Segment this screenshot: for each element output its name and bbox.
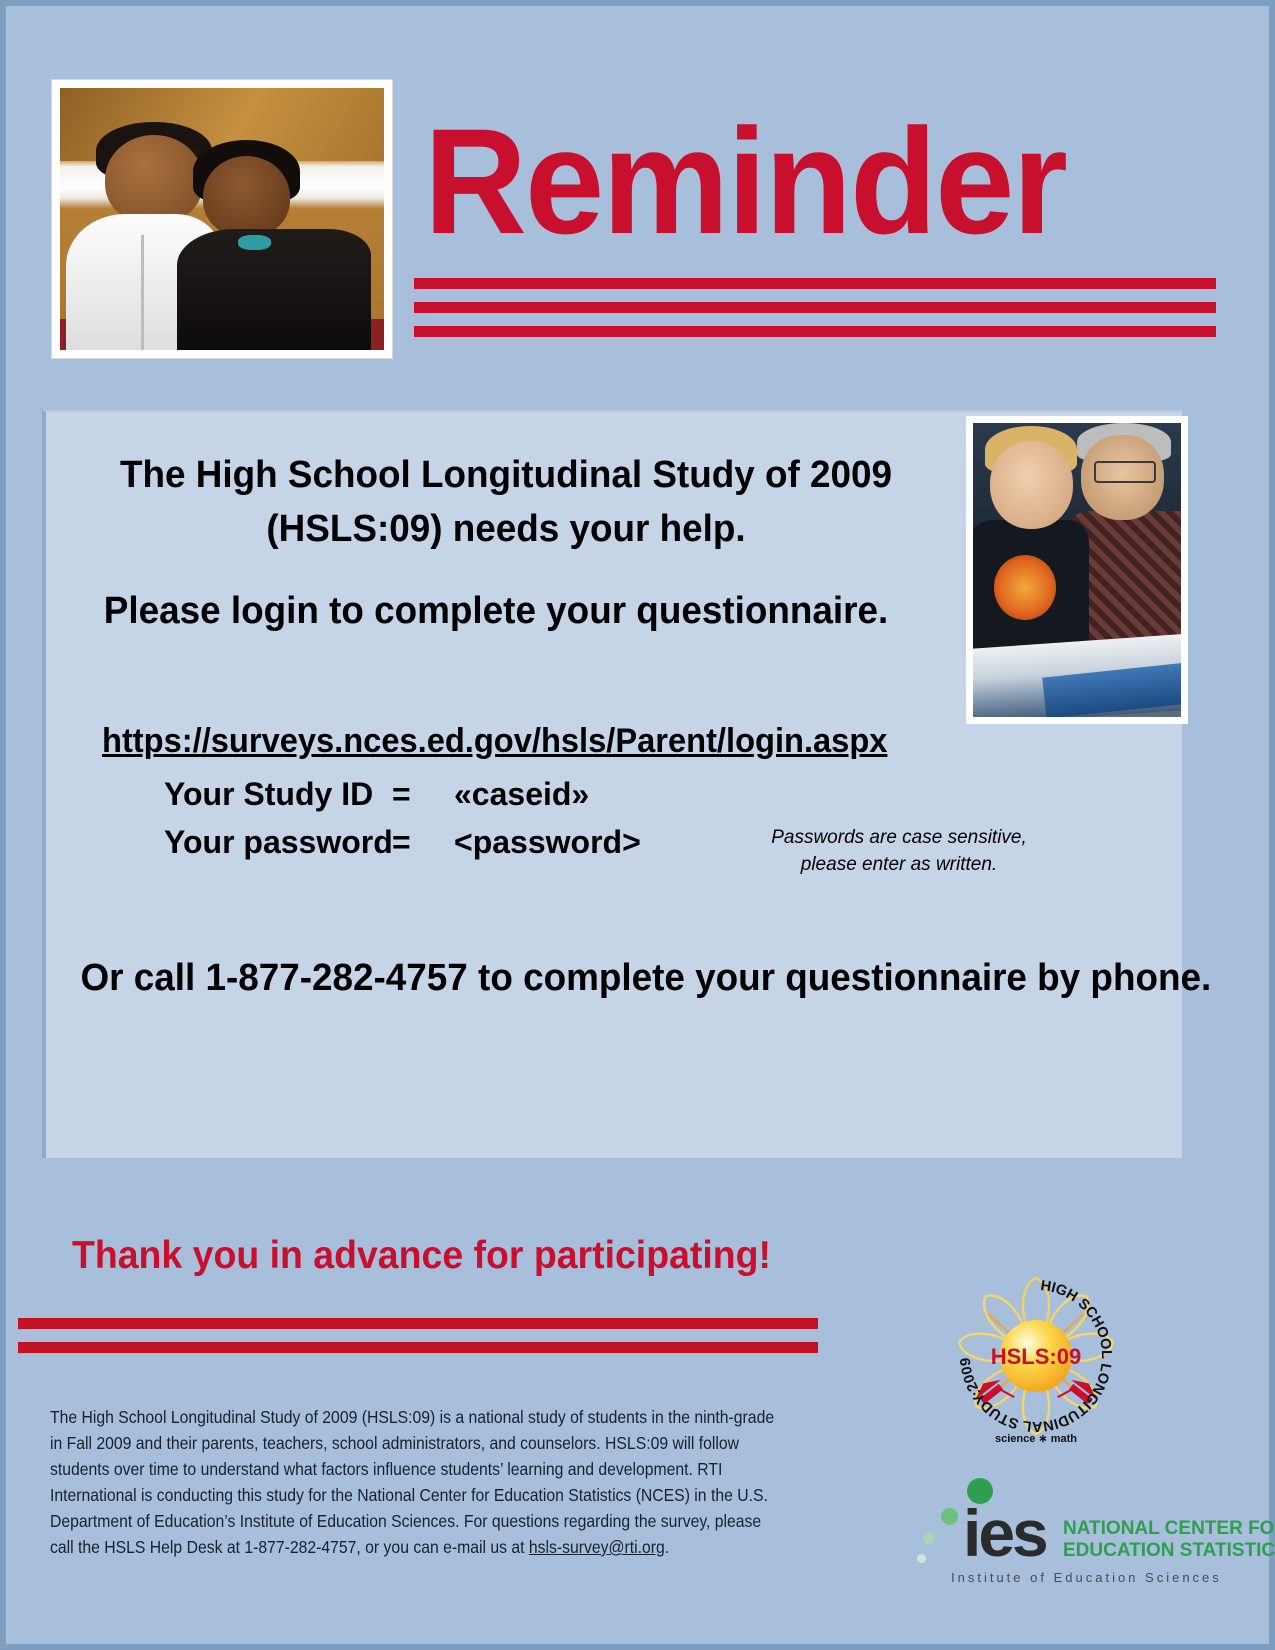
password-note-line-1: Passwords are case sensitive, <box>754 824 1044 851</box>
footer-rule-bars <box>18 1318 818 1366</box>
study-description-text: The High School Longitudinal Study of 20… <box>50 1407 774 1557</box>
password-note: Passwords are case sensitive, please ent… <box>754 824 1044 878</box>
study-id-value: «caseid» <box>454 776 589 812</box>
ies-line-1: NATIONAL CENTER FOR <box>1063 1518 1275 1540</box>
password-note-line-2: please enter as written. <box>754 851 1044 878</box>
password-row: Your password=<password> <box>164 824 641 861</box>
survey-login-link[interactable]: https://surveys.nces.ed.gov/hsls/Parent/… <box>102 722 887 761</box>
poster-page: Reminder The High School Longitudinal St… <box>0 0 1275 1650</box>
hsls-bottom-text: science ∗ math <box>995 1433 1077 1445</box>
study-description-period: . <box>665 1537 669 1557</box>
hsls-logo: HIGH SCHOOL LONGITUDINAL STUDY:2009 HSLS… <box>936 1256 1136 1456</box>
study-id-equals: = <box>392 776 454 813</box>
footer-rule-bar <box>18 1318 818 1329</box>
ies-line-2: EDUCATION STATISTICS <box>1063 1540 1275 1562</box>
header-rule-bar <box>414 278 1216 289</box>
panel-headline: The High School Longitudinal Study of 20… <box>60 448 952 556</box>
header-rule-bars <box>414 278 1216 350</box>
content-panel: The High School Longitudinal Study of 20… <box>42 410 1182 1158</box>
poster-header: Reminder <box>6 6 1269 386</box>
panel-subhead: Please login to complete your questionna… <box>60 590 933 633</box>
ies-logo: ies NATIONAL CENTER FOR EDUCATION STATIS… <box>911 1476 1201 1586</box>
phone-instruction: Or call 1-877-282-4757 to complete your … <box>81 957 1148 1000</box>
header-rule-bar <box>414 326 1216 337</box>
hsls-center-text: HSLS:09 <box>991 1344 1081 1369</box>
ies-subtitle: Institute of Education Sciences <box>951 1570 1222 1585</box>
password-equals: = <box>392 824 454 861</box>
help-desk-email-link[interactable]: hsls-survey@rti.org <box>529 1537 665 1557</box>
study-id-label: Your Study ID <box>164 776 392 813</box>
ies-wordmark: ies <box>963 1500 1046 1566</box>
panel-photo-frame <box>966 416 1188 724</box>
password-value: <password> <box>454 824 641 860</box>
password-label: Your password <box>164 824 392 861</box>
mother-and-daughter-photo <box>60 88 384 350</box>
study-id-row: Your Study ID=«caseid» <box>164 776 589 813</box>
reminder-title: Reminder <box>424 106 1066 256</box>
study-description: The High School Longitudinal Study of 20… <box>50 1404 788 1560</box>
footer-rule-bar <box>18 1342 818 1353</box>
header-rule-bar <box>414 302 1216 313</box>
header-photo-frame <box>52 80 392 358</box>
student-and-adult-reading-photo <box>973 423 1181 717</box>
thank-you-message: Thank you in advance for participating! <box>72 1234 771 1278</box>
